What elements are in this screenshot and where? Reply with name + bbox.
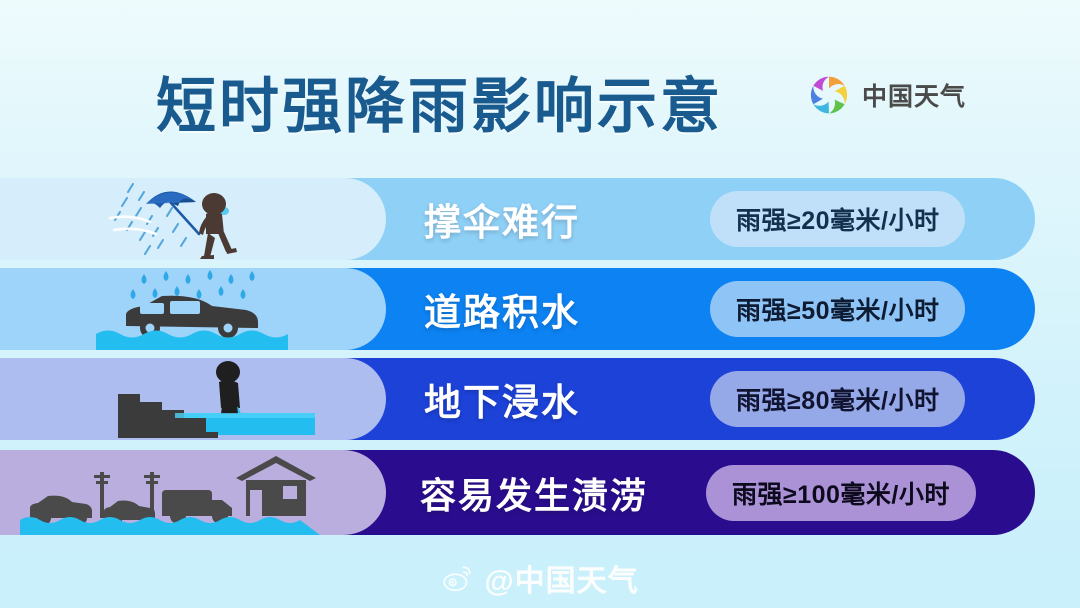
flooded-street-houses-vehicles-icon: [0, 450, 386, 535]
impact-label-1: 撑伞难行: [424, 192, 580, 246]
impact-label-4: 容易发生渍涝: [420, 467, 648, 519]
illustration-panel-4: [0, 450, 386, 535]
brand-name: 中国天气: [862, 77, 966, 113]
rain-intensity-badge-4: 雨强≥100毫米/小时: [706, 465, 976, 521]
house: [236, 456, 316, 516]
rain-intensity-badge-1: 雨强≥20毫米/小时: [710, 191, 965, 247]
impact-row-4: 容易发生渍涝 雨强≥100毫米/小时: [0, 450, 1035, 535]
impact-row-2: 道路积水 雨强≥50毫米/小时: [0, 268, 1035, 350]
impact-label-3: 地下浸水: [424, 372, 580, 426]
person-on-flooded-stairs-icon: [0, 358, 386, 440]
page-title: 短时强降雨影响示意: [156, 58, 723, 145]
illustration-panel-2: [0, 268, 386, 350]
raindrops: [131, 270, 255, 299]
brand-logo: 中国天气: [806, 72, 966, 118]
person-with-umbrella-in-rain-icon: [0, 178, 386, 260]
weibo-handle: @中国天气: [484, 556, 638, 600]
poster-header: 短时强降雨影响示意 中国天气: [0, 0, 1080, 172]
rain-intensity-badge-3: 雨强≥80毫米/小时: [710, 371, 965, 427]
poster-footer: @中国天气: [0, 556, 1080, 600]
infographic-poster: 短时强降雨影响示意 中国天气: [0, 0, 1080, 608]
rain-intensity-badge-2: 雨强≥50毫米/小时: [710, 281, 965, 337]
impact-label-2: 道路积水: [424, 282, 580, 336]
impact-row-1: 撑伞难行 雨强≥20毫米/小时: [0, 178, 1035, 260]
pinwheel-swirl-logo-icon: [806, 72, 852, 118]
car-silhouette: [126, 296, 258, 338]
car-in-standing-water-icon: [0, 268, 386, 350]
weibo-logo-icon: [441, 561, 475, 595]
illustration-panel-1: [0, 178, 386, 260]
illustration-panel-3: [0, 358, 386, 440]
walking-person-silhouette: [199, 193, 237, 259]
impact-row-3: 地下浸水 雨强≥80毫米/小时: [0, 358, 1035, 440]
